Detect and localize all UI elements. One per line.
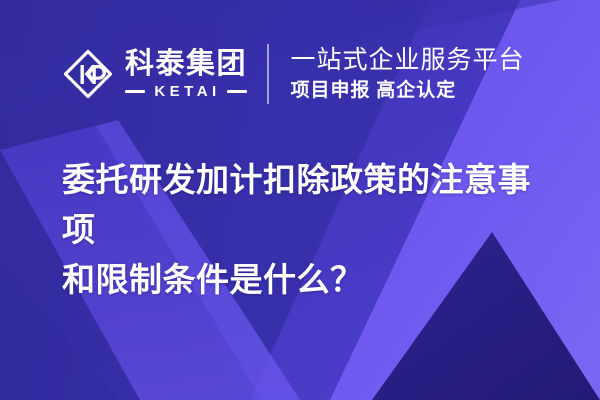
promotional-banner: 科泰集团 KETAI 一站式企业服务平台 项目申报 高企认定 委托研发加计扣除政… (0, 0, 600, 400)
banner-header: 科泰集团 KETAI 一站式企业服务平台 项目申报 高企认定 (62, 38, 525, 110)
tagline-primary: 一站式企业服务平台 (291, 46, 525, 74)
logo-wordmark: 科泰集团 KETAI (125, 49, 247, 98)
brand-logo[interactable]: 科泰集团 KETAI (62, 38, 247, 110)
headline-line-1: 委托研发加计扣除政策的注意事项 (62, 155, 562, 255)
logo-dash-right (227, 90, 247, 93)
logo-dash-left (125, 90, 145, 93)
logo-chinese-name: 科泰集团 (125, 49, 247, 79)
headline-line-2: 和限制条件是什么？ (62, 255, 562, 305)
logo-english-row: KETAI (125, 84, 247, 99)
header-divider (267, 44, 269, 104)
header-tagline: 一站式企业服务平台 项目申报 高企认定 (291, 46, 525, 103)
page-title: 委托研发加计扣除政策的注意事项 和限制条件是什么？ (62, 155, 562, 305)
tagline-secondary: 项目申报 高企认定 (291, 80, 525, 103)
ketai-kp-diamond-icon (62, 48, 114, 100)
logo-english-name: KETAI (145, 84, 226, 99)
